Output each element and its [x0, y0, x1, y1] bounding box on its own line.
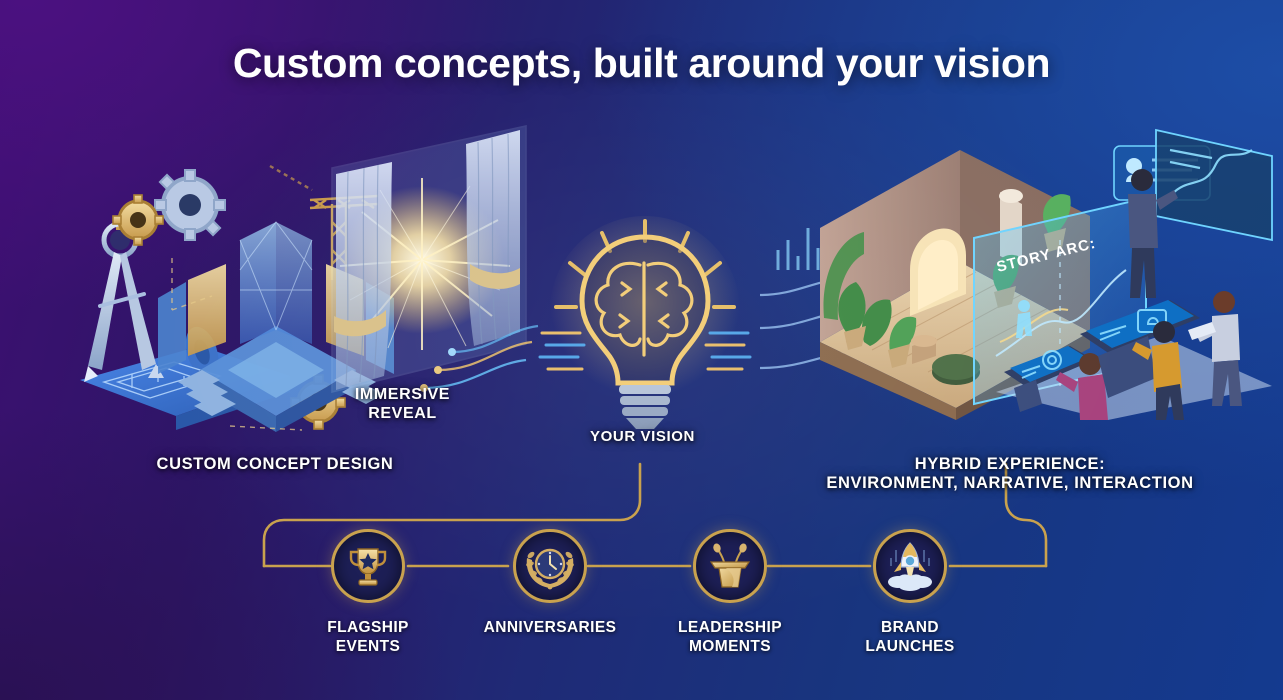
use-case-label-brand-launches: BRANDLAUNCHES [830, 618, 990, 657]
immersive-reveal-illustration [320, 120, 560, 410]
use-case-node-flagship-events[interactable] [331, 529, 405, 603]
custom-concept-design-label: CUSTOM CONCEPT DESIGN [100, 455, 450, 474]
rocket-icon [884, 540, 936, 592]
page-title: Custom concepts, built around your visio… [0, 40, 1283, 87]
immersive-reveal-label: IMMERSIVE REVEAL [310, 386, 495, 423]
curtain-right-icon [466, 130, 520, 346]
use-case-node-brand-launches[interactable] [873, 529, 947, 603]
your-vision-illustration [540, 215, 750, 430]
laurel-clock-icon [523, 540, 577, 592]
data-stream-dot-cyan [448, 348, 456, 356]
gear-icon-large [155, 170, 225, 240]
your-vision-label: YOUR VISION [545, 428, 740, 445]
infographic-canvas: Custom concepts, built around your visio… [0, 0, 1283, 700]
rocket-window [905, 556, 915, 566]
hybrid-experience-label: HYBRID EXPERIENCE: ENVIRONMENT, NARRATIV… [805, 455, 1215, 493]
launch-clouds [888, 574, 932, 591]
wall-display-group [1156, 130, 1272, 240]
compass-divider-icon [84, 216, 164, 382]
rocket-fin-left [894, 562, 901, 572]
hybrid-experience-illustration: STORY ARC: [760, 120, 1283, 420]
lightbulb-base [619, 385, 671, 429]
rocket-fin-right [919, 562, 926, 572]
use-case-label-leadership-moments: LEADERSHIPMOMENTS [650, 618, 810, 657]
use-case-label-anniversaries: ANNIVERSARIES [460, 618, 640, 637]
mini-bar-chart [778, 228, 818, 270]
use-case-label-flagship-events: FLAGSHIPEVENTS [288, 618, 448, 657]
podium-icon [706, 543, 754, 589]
curtain-left-icon [334, 162, 392, 390]
use-case-node-leadership-moments[interactable] [693, 529, 767, 603]
microphones [718, 549, 742, 562]
trophy-icon [345, 543, 391, 589]
use-case-node-anniversaries[interactable] [513, 529, 587, 603]
